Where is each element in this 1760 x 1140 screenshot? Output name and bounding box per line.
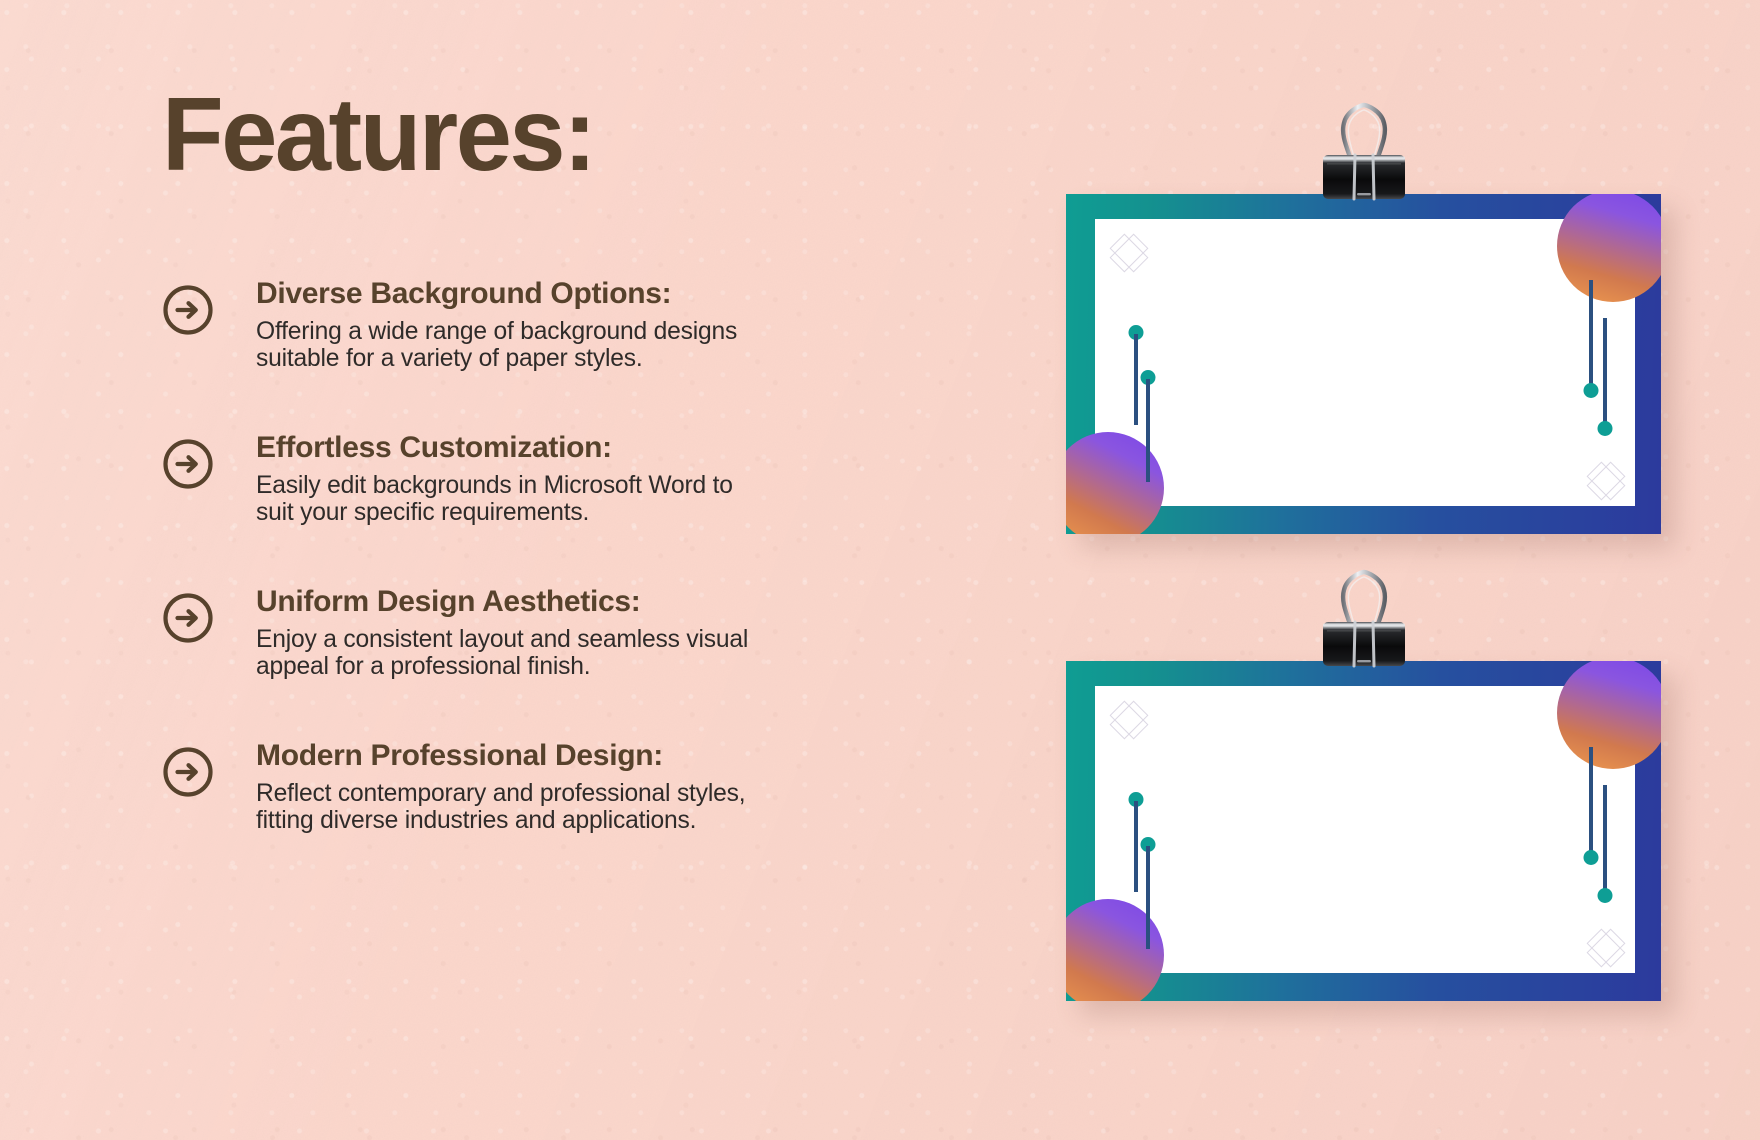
pin-marker-icon (1583, 280, 1598, 398)
card-gradient-frame (1066, 661, 1661, 1001)
feature-description-line: Enjoy a consistent layout and seamless v… (256, 626, 892, 653)
feature-description: Easily edit backgrounds in Microsoft Wor… (256, 472, 892, 526)
feature-text-block: Diverse Background Options: Offering a w… (256, 276, 902, 372)
cross-ornament-icon (1102, 226, 1156, 280)
feature-description: Enjoy a consistent layout and seamless v… (256, 626, 892, 680)
binder-clip-icon (1314, 568, 1414, 670)
feature-item-effortless-customization[interactable]: Effortless Customization: Easily edit ba… (162, 430, 902, 526)
background-template-preview-1[interactable] (1066, 194, 1661, 534)
cross-ornament-icon (1102, 693, 1156, 747)
pin-marker-icon (1583, 747, 1598, 865)
feature-description: Reflect contemporary and professional st… (256, 780, 892, 834)
feature-description-line: fitting diverse industries and applicati… (256, 807, 892, 834)
features-panel: Features: Diverse Background Options: Of… (162, 82, 902, 834)
feature-description-line: appeal for a professional finish. (256, 653, 892, 680)
feature-heading: Effortless Customization: (256, 430, 902, 465)
feature-description-line: Reflect contemporary and professional st… (256, 780, 892, 807)
feature-item-diverse-background-options[interactable]: Diverse Background Options: Offering a w… (162, 276, 902, 372)
pin-marker-icon (1597, 785, 1612, 903)
feature-item-modern-professional-design[interactable]: Modern Professional Design: Reflect cont… (162, 738, 902, 834)
feature-list: Diverse Background Options: Offering a w… (162, 276, 902, 834)
feature-description: Offering a wide range of background desi… (256, 318, 892, 372)
feature-heading: Modern Professional Design: (256, 738, 902, 773)
feature-heading: Diverse Background Options: (256, 276, 902, 311)
page-title: Features: (162, 82, 880, 188)
arrow-right-circle-icon (162, 746, 214, 798)
feature-text-block: Uniform Design Aesthetics: Enjoy a consi… (256, 584, 902, 680)
feature-description-line: suitable for a variety of paper styles. (256, 345, 892, 372)
card-gradient-frame (1066, 194, 1661, 534)
binder-clip-icon (1314, 101, 1414, 203)
pin-marker-icon (1597, 318, 1612, 436)
card-white-sheet (1095, 686, 1635, 973)
arrow-right-circle-icon (162, 438, 214, 490)
feature-description-line: suit your specific requirements. (256, 499, 892, 526)
arrow-right-circle-icon (162, 284, 214, 336)
feature-text-block: Modern Professional Design: Reflect cont… (256, 738, 902, 834)
pin-marker-icon (1140, 370, 1155, 482)
feature-item-uniform-design-aesthetics[interactable]: Uniform Design Aesthetics: Enjoy a consi… (162, 584, 902, 680)
cross-ornament-icon (1579, 921, 1633, 975)
arrow-right-circle-icon (162, 592, 214, 644)
feature-description-line: Offering a wide range of background desi… (256, 318, 892, 345)
feature-description-line: Easily edit backgrounds in Microsoft Wor… (256, 472, 892, 499)
pin-marker-icon (1140, 837, 1155, 949)
background-template-preview-2[interactable] (1066, 661, 1661, 1001)
cross-ornament-icon (1579, 454, 1633, 508)
feature-text-block: Effortless Customization: Easily edit ba… (256, 430, 902, 526)
feature-heading: Uniform Design Aesthetics: (256, 584, 902, 619)
card-white-sheet (1095, 219, 1635, 506)
